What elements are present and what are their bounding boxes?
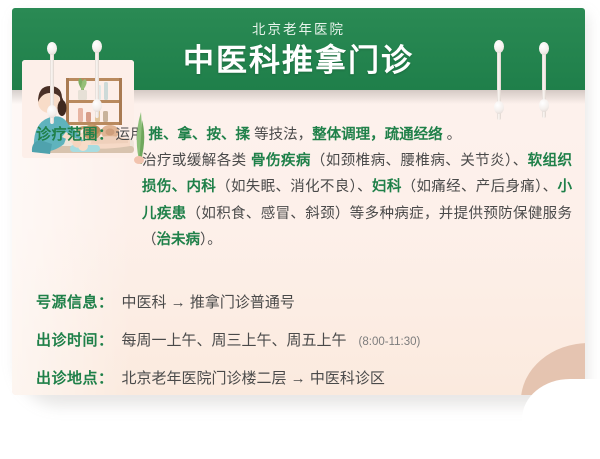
cotton-swab-icon-1 [47,42,57,118]
fold-corner-cutout [522,379,600,459]
scope-para-p1: 治疗或缓解各类 [142,153,251,169]
scope-highlight-1: 推、拿、按、揉 [149,127,251,143]
scope-para-p4: （如痛经、产后身痛）、 [402,179,558,195]
info-value-time: 每周一上午、周三上午、周五上午 [122,328,347,354]
scope-highlight-2: 整体调理，疏通经络 [312,127,443,143]
cotton-swab-icon-3 [494,40,504,114]
scope-para-h3: 妇科 [372,179,402,195]
cotton-swab-icon-2 [92,40,102,112]
info-time-range: (8:00-11:30) [359,336,421,348]
scope-para-h1: 骨伤疾病 [251,153,311,169]
leaf-decoration [134,86,146,164]
info-row-source: 号源信息： 中医科 → 推拿门诊普通号 [36,290,576,316]
info-label-time: 出诊时间： [36,329,114,350]
scope-block: 诊疗范围： 运用 推、拿、按、揉 等技法，整体调理，疏通经络 。 治疗或缓解各类… [36,122,572,253]
info-row-location: 出诊地点： 北京老年医院门诊楼二层 → 中医科诊区 [36,366,576,392]
info-row-time: 出诊时间： 每周一上午、周三上午、周五上午 (8:00-11:30) [36,328,576,354]
info-value-location: 北京老年医院门诊楼二层 → 中医科诊区 [122,366,385,392]
info-value-source: 中医科 → 推拿门诊普通号 [122,290,295,316]
scope-para-p3: （如失眠、消化不良）、 [216,179,372,195]
scope-plain-3: 。 [443,127,462,143]
scope-para-h5: 治未病 [157,232,201,248]
scope-para-p2: （如颈椎病、腰椎病、关节炎）、 [311,153,528,169]
info-label-location: 出诊地点： [36,367,114,388]
cotton-swab-icon-4 [539,42,549,112]
scope-para-p6: ）。 [200,232,222,248]
info-label-source: 号源信息： [36,291,114,312]
scope-label: 诊疗范围： [36,122,114,148]
scope-line1: 运用 推、拿、按、揉 等技法，整体调理，疏通经络 。 [116,122,462,148]
poster-root: 北京老年医院 中医科推拿门诊 [0,0,600,433]
scope-paragraph: 治疗或缓解各类 骨伤疾病（如颈椎病、腰椎病、关节炎）、软组织损伤、内科（如失眠、… [142,148,572,253]
scope-plain-2: 等技法， [250,127,312,143]
